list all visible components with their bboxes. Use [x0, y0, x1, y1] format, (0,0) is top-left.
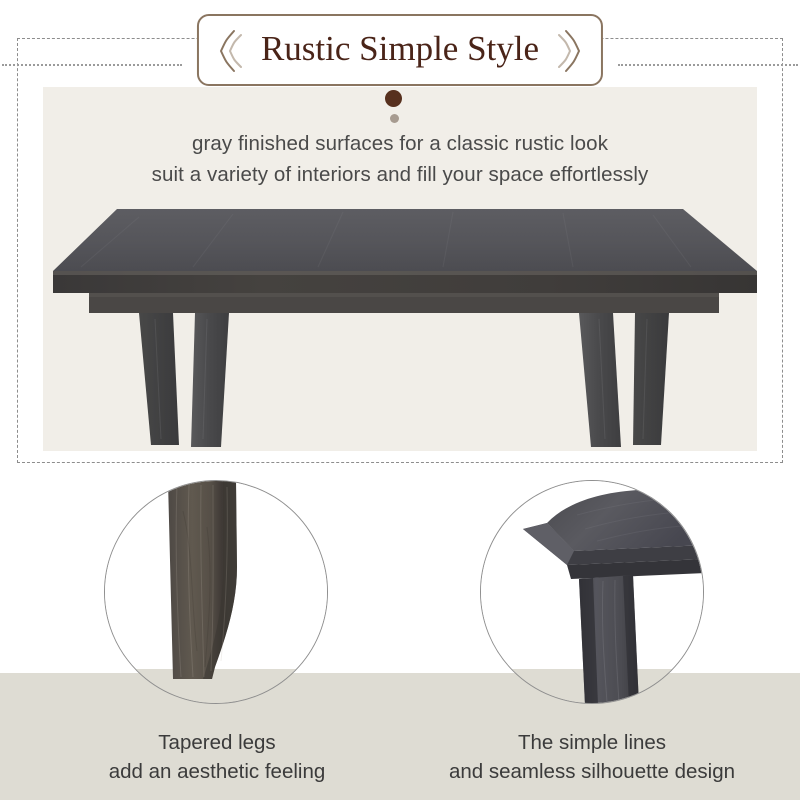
hero-description-line-2: suit a variety of interiors and fill you…	[0, 159, 800, 190]
infographic-page: gray finished surfaces for a classic rus…	[0, 0, 800, 800]
title-banner: Rustic Simple Style	[0, 14, 800, 88]
detail-caption-left-line-2: add an aesthetic feeling	[37, 757, 397, 786]
accent-dot-small	[390, 114, 399, 123]
hero-description-line-1: gray finished surfaces for a classic rus…	[0, 128, 800, 159]
detail-caption-left-line-1: Tapered legs	[37, 728, 397, 757]
dotted-rule-left-icon	[2, 64, 182, 66]
dotted-rule-right-icon	[618, 64, 798, 66]
hero-description: gray finished surfaces for a classic rus…	[0, 128, 800, 190]
detail-caption-left: Tapered legs add an aesthetic feeling	[37, 728, 397, 786]
detail-callout-left	[104, 480, 328, 704]
detail-image-corner-joint	[480, 480, 704, 704]
page-title: Rustic Simple Style	[197, 14, 603, 86]
accent-dot-large	[385, 90, 402, 107]
detail-caption-right-line-2: and seamless silhouette design	[412, 757, 772, 786]
detail-image-tapered-leg	[104, 480, 328, 704]
detail-caption-right: The simple lines and seamless silhouette…	[412, 728, 772, 786]
detail-callout-right	[480, 480, 704, 704]
detail-caption-right-line-1: The simple lines	[412, 728, 772, 757]
